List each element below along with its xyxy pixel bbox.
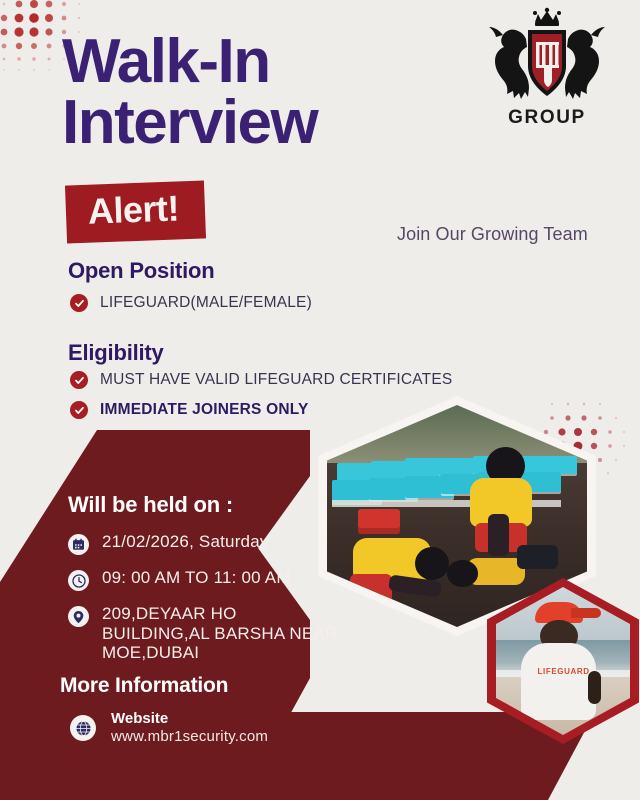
photo-lifeguard-ocean: LIFEGUARD: [487, 578, 639, 744]
open-position-heading: Open Position: [68, 258, 215, 284]
clock-icon: [68, 570, 89, 591]
check-icon: [70, 401, 88, 419]
list-item-label: IMMEDIATE JOINERS ONLY: [100, 401, 309, 419]
globe-icon: [70, 715, 96, 741]
alert-badge: Alert!: [65, 180, 206, 243]
eligibility-heading: Eligibility: [68, 340, 164, 366]
crest-icon: [472, 6, 622, 110]
list-item-label: LIFEGUARD(MALE/FEMALE): [100, 294, 312, 312]
headline-line-1: Walk-In: [62, 27, 270, 96]
event-address-row: 209,DEYAAR HO BUILDING,AL BARSHA NEAR MO…: [68, 604, 337, 663]
event-heading: Will be held on :: [68, 492, 233, 518]
check-icon: [70, 371, 88, 389]
event-time: 09: 00 AM TO 11: 00 AM: [102, 568, 291, 588]
headline-line-2: Interview: [62, 93, 482, 154]
website-label: Website: [111, 710, 168, 727]
list-item: MUST HAVE VALID LIFEGUARD CERTIFICATES: [70, 371, 452, 389]
list-item: IMMEDIATE JOINERS ONLY: [70, 401, 309, 419]
page-title: Walk-In Interview: [62, 32, 482, 154]
event-date-row: 21/02/2026, Saturday: [68, 532, 269, 555]
event-address: 209,DEYAAR HO BUILDING,AL BARSHA NEAR MO…: [102, 604, 337, 663]
calendar-icon: [68, 534, 89, 555]
list-item: LIFEGUARD(MALE/FEMALE): [70, 294, 312, 312]
logo-wordmark: GROUP: [472, 107, 622, 129]
location-pin-icon: [68, 606, 89, 627]
event-time-row: 09: 00 AM TO 11: 00 AM: [68, 568, 291, 591]
poster-canvas: GROUP Walk-In Interview Alert! Join Our …: [0, 0, 640, 800]
website-row[interactable]: Website www.mbr1security.com: [70, 710, 268, 747]
list-item-label: MUST HAVE VALID LIFEGUARD CERTIFICATES: [100, 371, 452, 389]
more-information-heading: More Information: [60, 674, 228, 698]
website-url[interactable]: www.mbr1security.com: [111, 728, 268, 745]
tagline: Join Our Growing Team: [397, 224, 588, 245]
event-date: 21/02/2026, Saturday: [102, 532, 269, 552]
company-logo: GROUP: [472, 6, 622, 138]
shirt-text: LIFEGUARD: [538, 667, 590, 676]
check-icon: [70, 294, 88, 312]
